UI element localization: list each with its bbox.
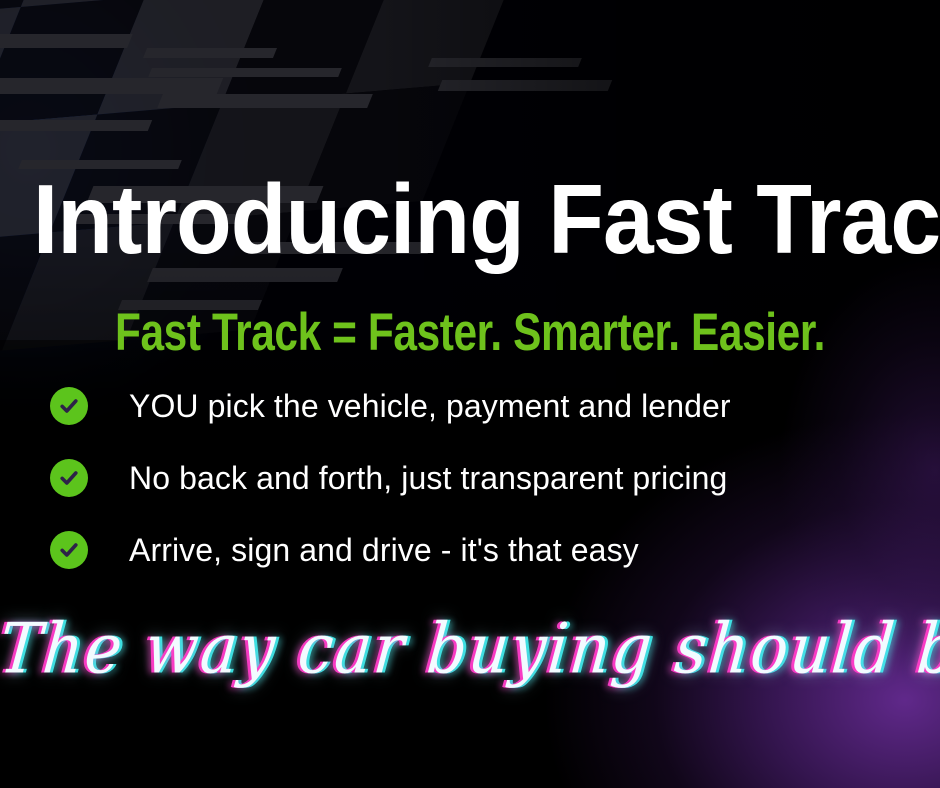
benefit-list: YOU pick the vehicle, payment and lender… bbox=[50, 370, 910, 586]
list-item: YOU pick the vehicle, payment and lender bbox=[50, 370, 910, 442]
check-circle-icon bbox=[50, 459, 88, 497]
promo-poster: Introducing Fast Track Fast Track = Fast… bbox=[0, 0, 940, 788]
subheadline: Fast Track = Faster. Smarter. Easier. bbox=[94, 306, 846, 359]
headline: Introducing Fast Track bbox=[33, 170, 907, 268]
list-item: Arrive, sign and drive - it's that easy bbox=[50, 514, 910, 586]
list-item-label: No back and forth, just transparent pric… bbox=[129, 460, 727, 497]
list-item-label: YOU pick the vehicle, payment and lender bbox=[129, 388, 731, 425]
poster-content: Introducing Fast Track Fast Track = Fast… bbox=[0, 0, 940, 788]
check-circle-icon bbox=[50, 531, 88, 569]
check-circle-icon bbox=[50, 387, 88, 425]
tagline: The way car buying should be. bbox=[0, 608, 940, 690]
list-item: No back and forth, just transparent pric… bbox=[50, 442, 910, 514]
list-item-label: Arrive, sign and drive - it's that easy bbox=[129, 532, 639, 569]
